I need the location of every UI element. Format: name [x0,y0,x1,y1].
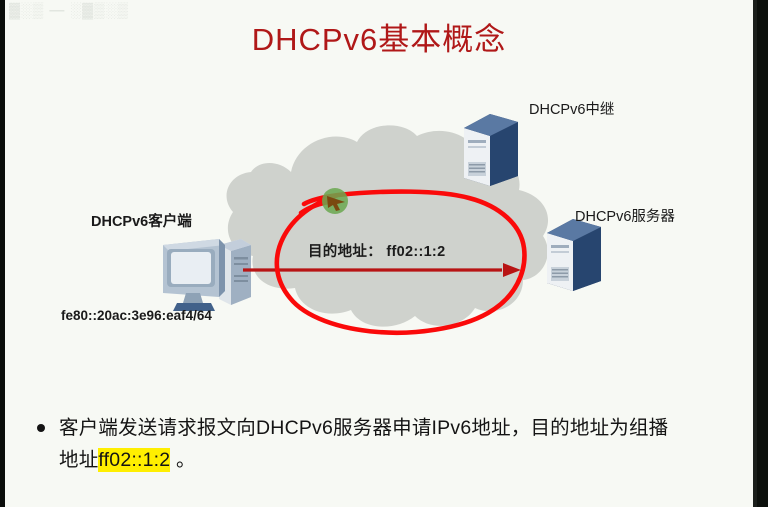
bullet-line-1: 客户端发送请求报文向DHCPv6服务器申请IPv6地址，目的地址为组播 [35,412,735,444]
label-client: DHCPv6客户端 [91,210,192,231]
bullet-marker-icon [37,424,45,432]
video-frame: ▓░▒ — ░▓▒░▒ DHCPv6基本概念 [0,0,768,507]
label-server: DHCPv6服务器 [575,205,675,226]
bullet-line-2-suffix: 。 [170,449,195,471]
desktop-computer-icon-client [153,235,258,315]
highlighted-address: ff02::1:2 [98,448,170,472]
label-client-address: fe80::20ac:3e96:eaf4/64 [61,308,212,323]
server-tower-icon-server [543,215,605,293]
bullet-line-1-text: 客户端发送请求报文向DHCPv6服务器申请IPv6地址，目的地址为组播 [59,417,668,439]
bullet-line-2-prefix: 地址 [59,449,98,471]
bullet-line-2: 地址ff02::1:2 。 [35,444,735,476]
slide-title: DHCPv6基本概念 [5,14,753,59]
presentation-slide: ▓░▒ — ░▓▒░▒ DHCPv6基本概念 [5,0,753,507]
label-destination-address: 目的地址： ff02::1:2 [308,240,445,261]
label-relay: DHCPv6中继 [529,98,614,119]
bullet-block: 客户端发送请求报文向DHCPv6服务器申请IPv6地址，目的地址为组播 地址ff… [35,412,735,476]
network-diagram: DHCPv6中继 DHCPv6服务器 DHCPv6客户端 fe80::20ac:… [5,70,753,380]
server-tower-icon-relay [460,110,522,188]
letterbox-bar-right [757,0,768,507]
